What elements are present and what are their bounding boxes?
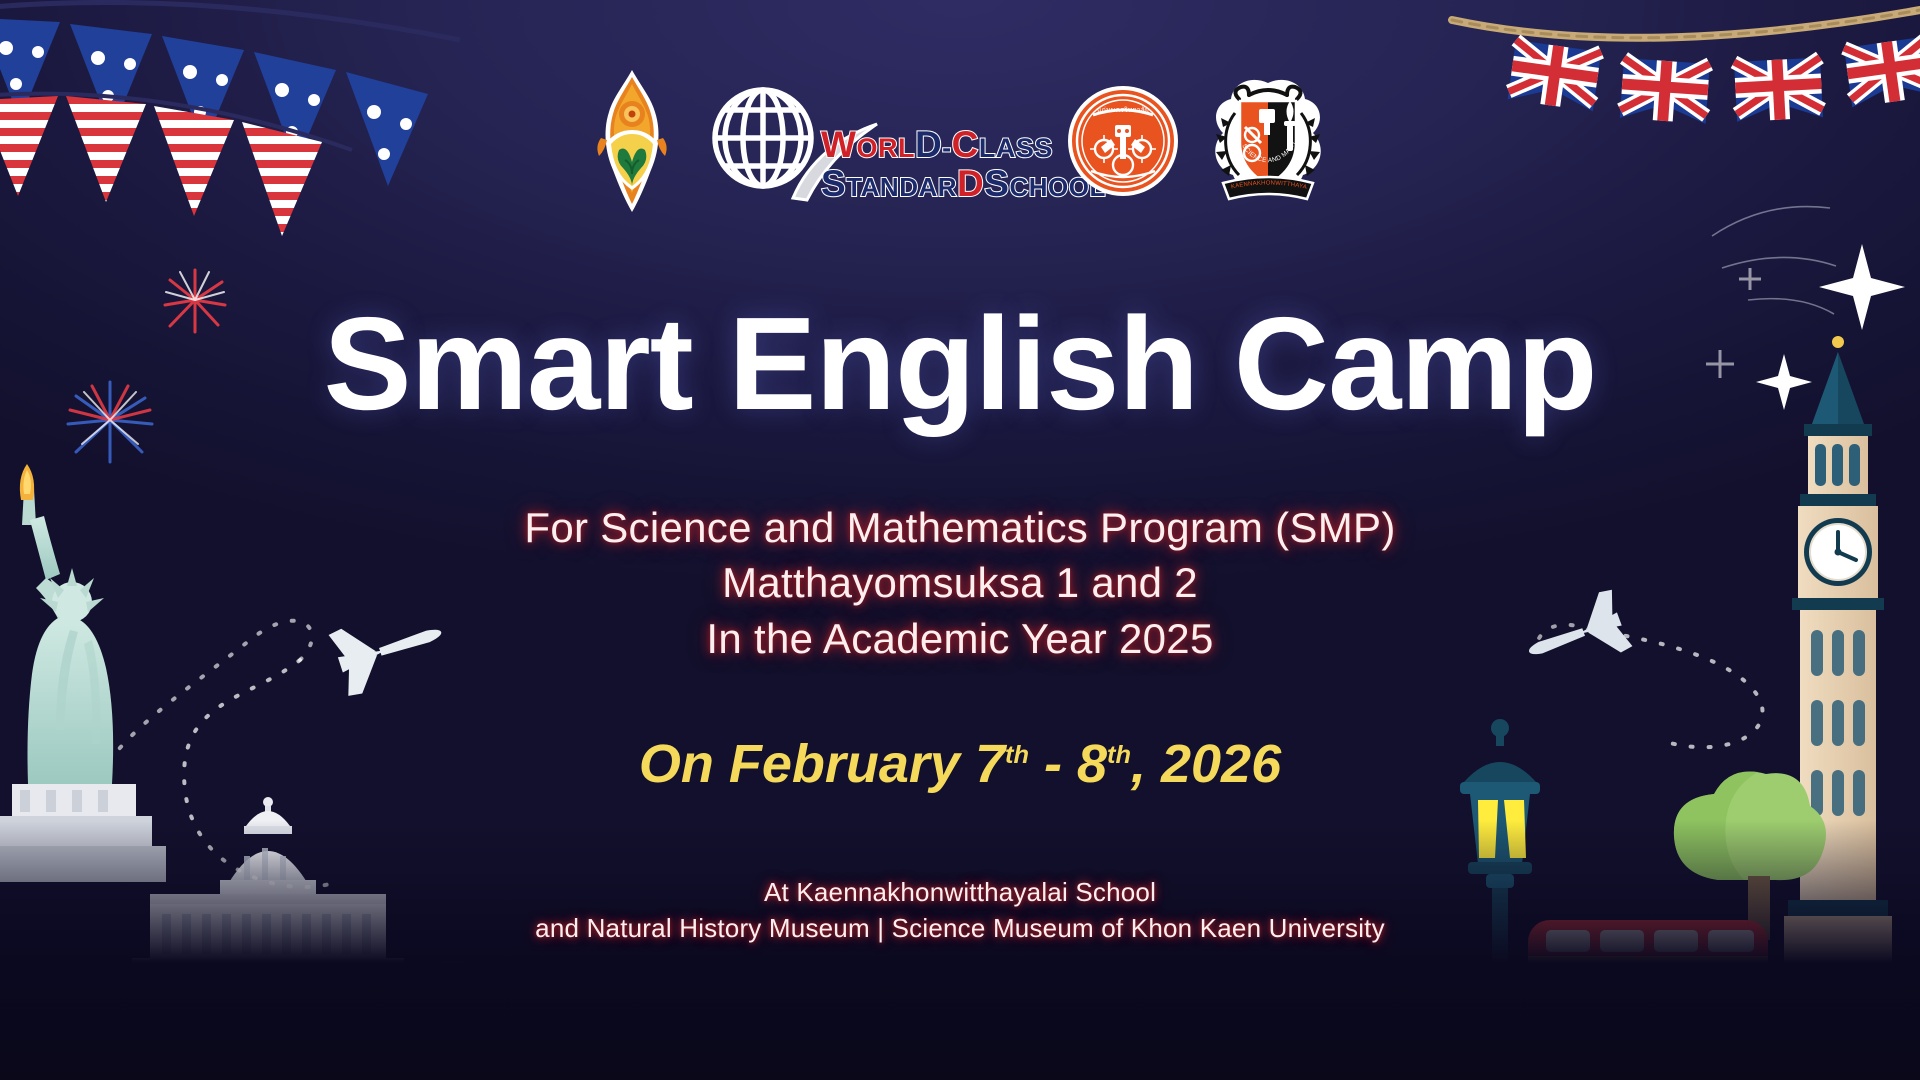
wcss-s2-letter: S bbox=[984, 165, 1009, 202]
date-separator: - bbox=[1029, 734, 1077, 794]
wcss-d2-letter: D bbox=[957, 165, 984, 202]
wcss-w-letter: W bbox=[821, 126, 856, 163]
wcss-lass-letters: LASS bbox=[979, 135, 1053, 162]
subtitle-line-1: For Science and Mathematics Program (SMP… bbox=[0, 500, 1920, 555]
date-day-end: 8 bbox=[1077, 734, 1107, 794]
date-year: , 2026 bbox=[1131, 734, 1281, 794]
date-prefix: On February bbox=[639, 734, 975, 794]
poster-canvas: W ORL D - C LASS S TANDAR D S CHOOL bbox=[0, 0, 1920, 1080]
wcss-orl-letters: ORL bbox=[856, 135, 915, 162]
event-date: On February 7th - 8th, 2026 bbox=[0, 733, 1920, 795]
svg-text:แก่นนครวิทยาลัย: แก่นนครวิทยาลัย bbox=[1097, 106, 1149, 114]
subtitle-block: For Science and Mathematics Program (SMP… bbox=[0, 500, 1920, 666]
thai-ministry-of-education-emblem-logo bbox=[589, 68, 675, 214]
wcss-tandar-letters: TANDAR bbox=[846, 174, 957, 200]
wcss-hyphen: - bbox=[942, 135, 952, 162]
page-title: Smart English Camp bbox=[0, 298, 1920, 430]
date-day-start-suffix: th bbox=[1005, 741, 1029, 769]
venue-block: At Kaennakhonwitthayalai School and Natu… bbox=[0, 875, 1920, 947]
wcss-d-letter: D bbox=[915, 126, 942, 163]
thai-orange-seal-logo: แก่นนครวิทยาลัย bbox=[1067, 85, 1179, 197]
logo-row: W ORL D - C LASS S TANDAR D S CHOOL bbox=[0, 68, 1920, 214]
american-football-decoration bbox=[353, 945, 507, 1075]
date-day-end-suffix: th bbox=[1107, 741, 1131, 769]
date-day-start: 7 bbox=[975, 734, 1005, 794]
subtitle-line-2: Matthayomsuksa 1 and 2 bbox=[0, 555, 1920, 610]
world-class-standard-school-logo: W ORL D - C LASS S TANDAR D S CHOOL bbox=[701, 80, 1041, 202]
wcss-c-letter: C bbox=[952, 126, 979, 163]
venue-line-2: and Natural History Museum | Science Mus… bbox=[0, 911, 1920, 947]
kaennakhonwitthayalai-school-crest-logo: SCIENCE AND MATHEMATICS PROGRAM KAENNAKH… bbox=[1205, 77, 1331, 205]
subtitle-line-3: In the Academic Year 2025 bbox=[0, 611, 1920, 666]
wcss-s-letter: S bbox=[821, 165, 846, 202]
venue-line-1: At Kaennakhonwitthayalai School bbox=[0, 875, 1920, 911]
world-class-standard-school-text: W ORL D - C LASS S TANDAR D S CHOOL bbox=[821, 126, 1041, 202]
